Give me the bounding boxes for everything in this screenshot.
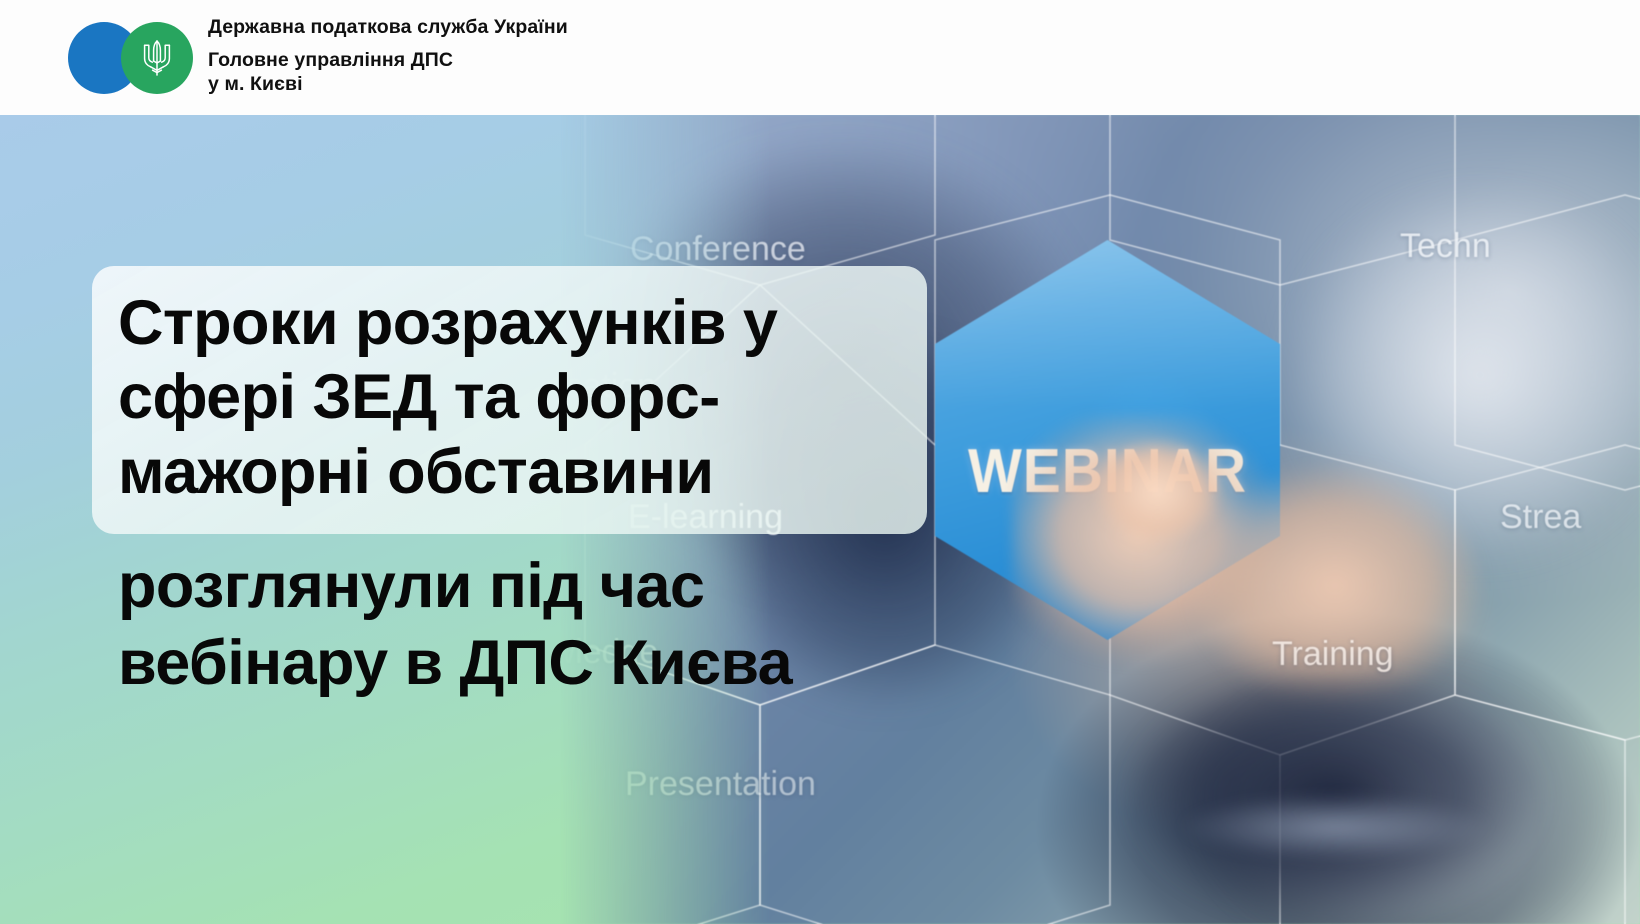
hex-label-technology: Techn [1400, 227, 1491, 266]
logo-green-circle-icon [121, 22, 193, 94]
headline-line-4: розглянули під час [118, 548, 938, 625]
org-name-line2: Головне управління ДПС [208, 49, 568, 73]
hand-fingertip [1090, 437, 1240, 567]
site-header: Державна податкова служба України Головн… [0, 0, 1640, 115]
dps-logo[interactable] [68, 22, 193, 94]
headline-line-3: мажорні обставини [118, 435, 938, 509]
headline-line-5: вебінару в ДПС Києва [118, 625, 938, 702]
ukraine-trident-emblem-icon [140, 37, 174, 79]
headline-line-2: сфері ЗЕД та форс- [118, 360, 938, 434]
headline-secondary: розглянули під час вебінару в ДПС Києва [118, 548, 938, 702]
hex-label-presentation: Presentation [625, 765, 816, 804]
hex-label-conference: Conference [630, 230, 806, 269]
org-name-line3: у м. Києві [208, 73, 568, 97]
hex-label-training: Training [1272, 635, 1394, 674]
org-title-block: Державна податкова служба України Головн… [208, 18, 568, 96]
headline-primary: Строки розрахунків у сфері ЗЕД та форс- … [118, 286, 938, 509]
headline-line-1: Строки розрахунків у [118, 286, 938, 360]
banner-stage: WEBINAR Conference Techn Education E-lea… [0, 0, 1640, 924]
hand-sleeve-edge [1135, 767, 1535, 887]
org-name-line1: Державна податкова служба України [208, 18, 568, 38]
hex-label-streaming: Strea [1500, 498, 1581, 537]
